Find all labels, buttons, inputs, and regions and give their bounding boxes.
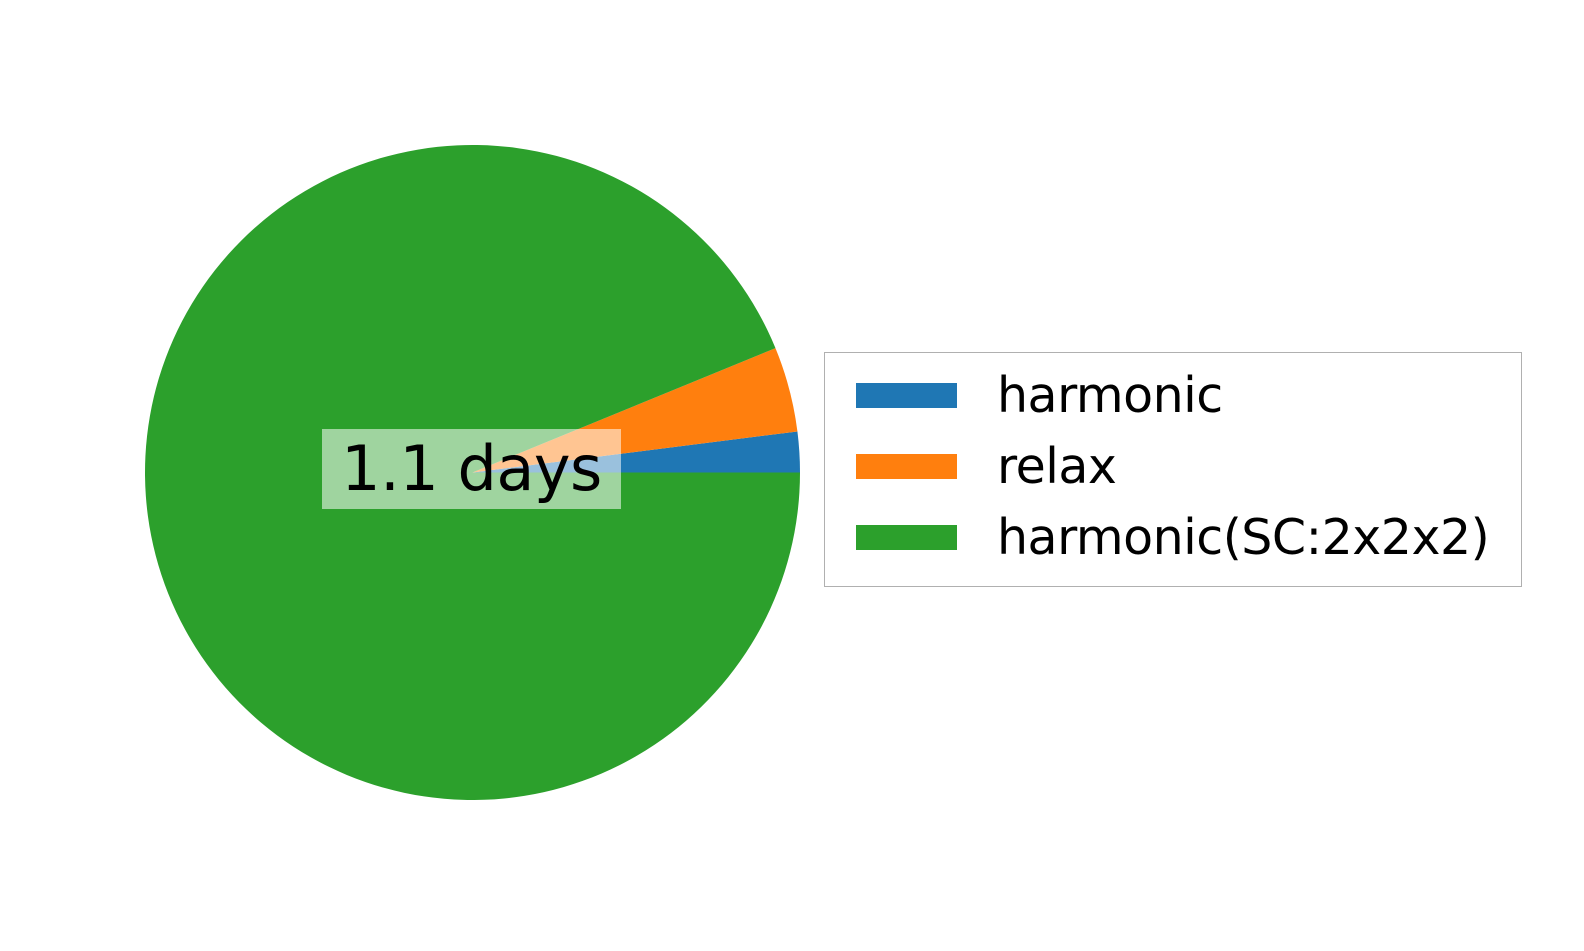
pie-chart-area xyxy=(145,145,800,800)
legend-label-harmonic-sc: harmonic(SC:2x2x2) xyxy=(997,513,1489,562)
legend-item-harmonic-sc[interactable]: harmonic(SC:2x2x2) xyxy=(825,514,1489,560)
legend-item-harmonic[interactable]: harmonic xyxy=(825,372,1223,418)
legend-swatch-relax xyxy=(856,454,957,479)
pie-chart-figure: 1.1 days harmonic relax harmonic(SC:2x2x… xyxy=(0,0,1584,951)
legend-label-harmonic: harmonic xyxy=(997,371,1223,420)
pie-svg xyxy=(145,145,800,800)
legend-item-relax[interactable]: relax xyxy=(825,443,1116,489)
pie-slice-group xyxy=(145,145,800,800)
legend-box: harmonic relax harmonic(SC:2x2x2) xyxy=(824,352,1522,587)
legend-swatch-harmonic xyxy=(856,383,957,408)
legend-swatch-harmonic-sc xyxy=(856,525,957,550)
pie-slice[interactable] xyxy=(145,145,800,800)
legend-label-relax: relax xyxy=(997,442,1116,491)
